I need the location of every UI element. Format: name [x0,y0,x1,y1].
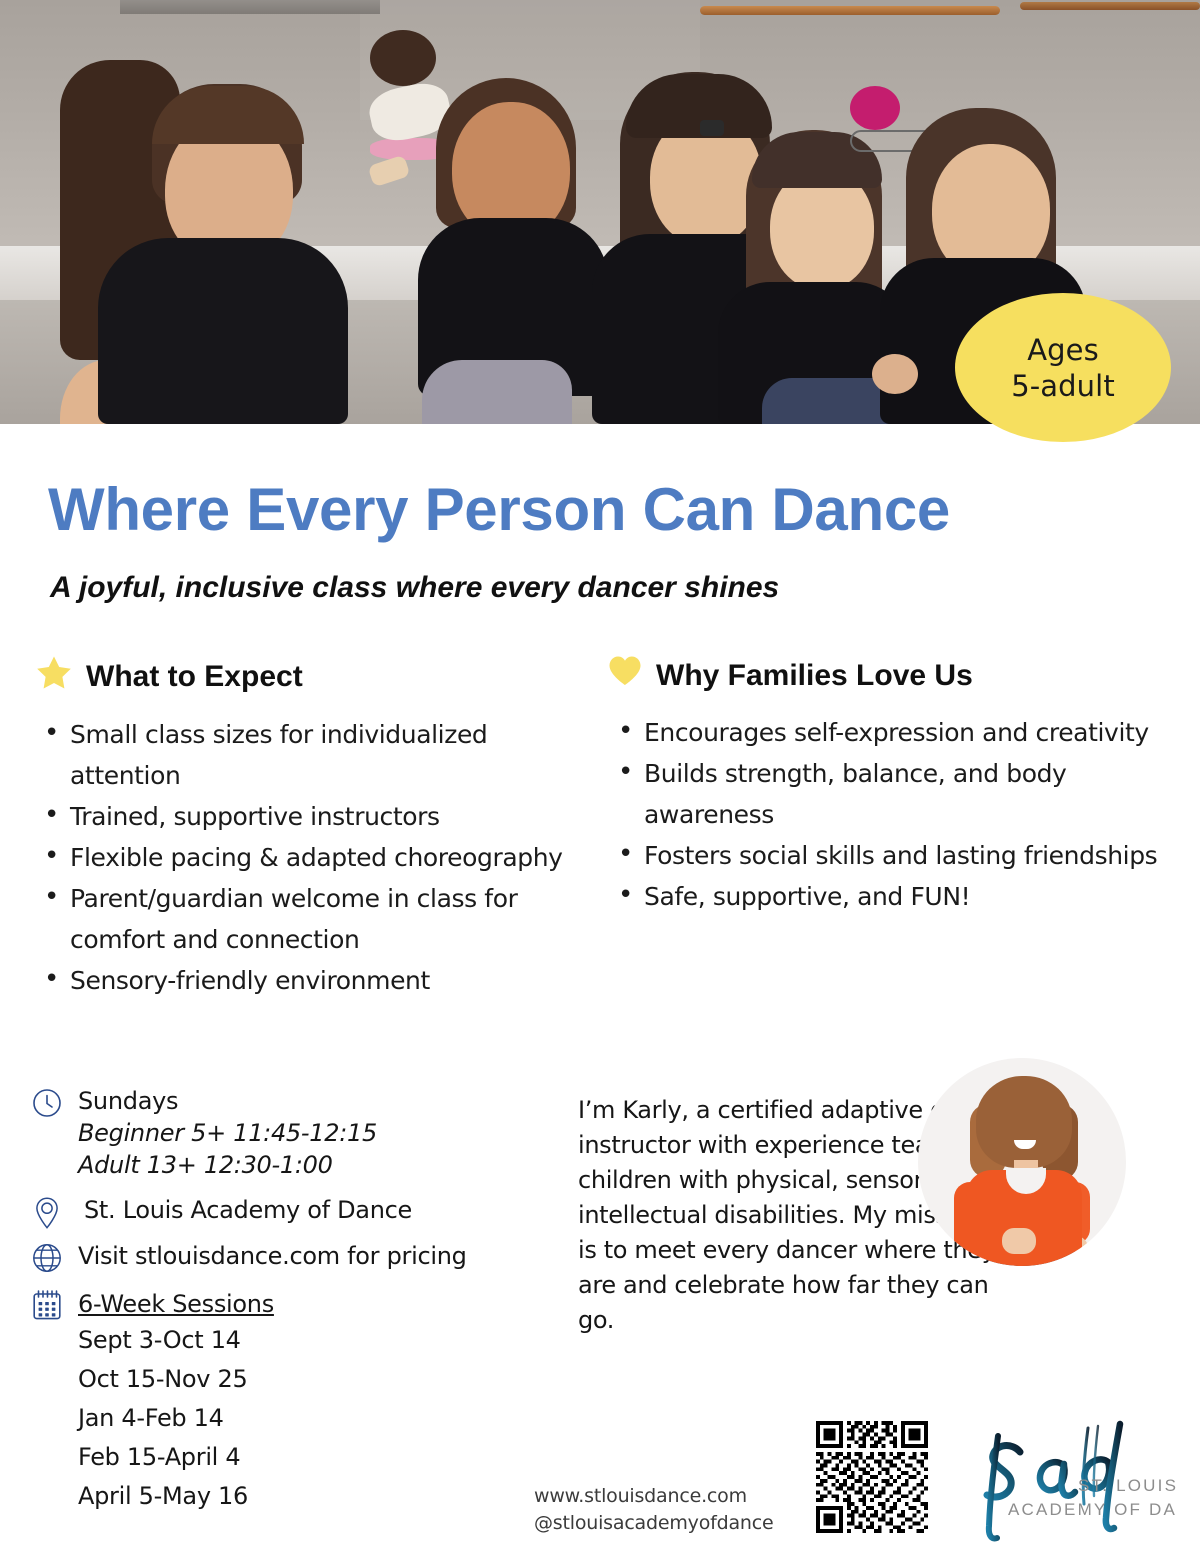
list-item: Flexible pacing & adapted choreography [36,837,596,878]
list-item: Safe, supportive, and FUN! [608,876,1183,917]
qr-code[interactable] [816,1421,928,1533]
schedule-time-adult: Adult 13+ 12:30-1:00 [78,1149,570,1181]
ages-badge-line1: Ages [1027,332,1099,368]
footer-website[interactable]: www.stlouisdance.com [534,1483,774,1510]
session-date: Jan 4-Feb 14 [78,1399,570,1438]
section-what-to-expect: What to Expect Small class sizes for ind… [36,655,596,1001]
what-to-expect-list: Small class sizes for individualized att… [36,714,596,1001]
section-why-families-love-us: Why Families Love Us Encourages self-exp… [608,655,1183,917]
dancer-1 [60,60,360,424]
logo-line2: ACADEMY OF DANCE [1008,1500,1178,1519]
detail-sessions: 6-Week Sessions Sept 3-Oct 14 Oct 15-Nov… [30,1287,570,1516]
section-heading-text: What to Expect [86,659,303,695]
page-subtitle: A joyful, inclusive class where every da… [50,569,1150,607]
detail-pricing: Visit stlouisdance.com for pricing [30,1241,570,1275]
globe-icon [30,1241,64,1275]
schedule-time-beginner: Beginner 5+ 11:45-12:15 [78,1117,570,1149]
list-item: Small class sizes for individualized att… [36,714,596,796]
location-text: St. Louis Academy of Dance [78,1195,570,1226]
why-families-love-us-list: Encourages self-expression and creativit… [608,712,1183,917]
footer-contact: www.stlouisdance.com @stlouisacademyofda… [534,1483,774,1537]
detail-schedule: Sundays Beginner 5+ 11:45-12:15 Adult 13… [30,1086,570,1181]
session-date: April 5-May 16 [78,1477,570,1516]
calendar-icon [30,1287,64,1321]
ages-badge: Ages 5-adult [955,293,1171,442]
star-icon [36,655,72,698]
instructor-headshot [918,1058,1126,1266]
clock-icon [30,1086,64,1120]
list-item: Builds strength, balance, and body aware… [608,753,1183,835]
heart-icon [608,655,642,696]
section-heading-row: Why Families Love Us [608,655,1183,696]
list-item: Parent/guardian welcome in class for com… [36,878,596,960]
list-item: Sensory-friendly environment [36,960,596,1001]
pricing-text: Visit stlouisdance.com for pricing [78,1241,570,1272]
footer-social-handle[interactable]: @stlouisacademyofdance [534,1510,774,1537]
list-item: Encourages self-expression and creativit… [608,712,1183,753]
ages-badge-line2: 5-adult [1011,368,1115,404]
session-date: Oct 15-Nov 25 [78,1360,570,1399]
location-pin-icon [30,1195,64,1229]
list-item: Fosters social skills and lasting friend… [608,835,1183,876]
page-title: Where Every Person Can Dance [48,479,1168,541]
stad-logo: ST. LOUIS ACADEMY OF DANCE [960,1418,1178,1544]
section-heading-row: What to Expect [36,655,596,698]
detail-location: St. Louis Academy of Dance [30,1195,570,1229]
logo-line1: ST. LOUIS [1078,1476,1178,1495]
schedule-day: Sundays [78,1086,570,1117]
ballet-barre [700,6,1000,15]
class-details: Sundays Beginner 5+ 11:45-12:15 Adult 13… [30,1086,570,1526]
mirror-bar [120,0,380,14]
ballet-barre-secondary [1020,2,1200,10]
session-date: Sept 3-Oct 14 [78,1321,570,1360]
list-item: Trained, supportive instructors [36,796,596,837]
sessions-heading: 6-Week Sessions [78,1287,570,1321]
session-date: Feb 15-April 4 [78,1438,570,1477]
section-heading-text: Why Families Love Us [656,658,973,694]
